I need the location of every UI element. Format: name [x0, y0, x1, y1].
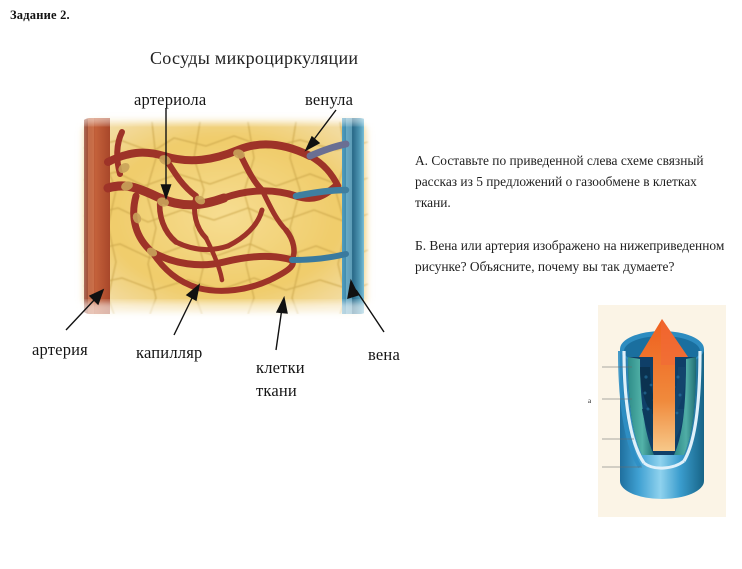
- label-tissue-cells-line1: клетки: [256, 358, 305, 378]
- question-a-text: А. Составьте по приведенной слева схеме …: [415, 150, 725, 213]
- label-capillary: капилляр: [136, 343, 202, 363]
- vein-figure: а: [598, 305, 726, 517]
- vein-illustration: [598, 305, 726, 517]
- question-b-text: Б. Вена или артерия изображено на нижепр…: [415, 235, 725, 277]
- questions-column: А. Составьте по приведенной слева схеме …: [415, 150, 725, 277]
- label-artery: артерия: [32, 340, 88, 360]
- page-root: Задание 2. Сосуды микроциркуляции: [0, 0, 742, 569]
- vein-side-mark: а: [588, 397, 591, 405]
- label-arteriole: артериола: [134, 90, 206, 110]
- label-tissue-cells-line2: ткани: [256, 381, 297, 401]
- page-title: Задание 2.: [10, 8, 70, 23]
- label-venule: венула: [305, 90, 353, 110]
- label-vein: вена: [368, 345, 400, 365]
- microcirculation-figure: Сосуды микроциркуляции: [24, 40, 424, 410]
